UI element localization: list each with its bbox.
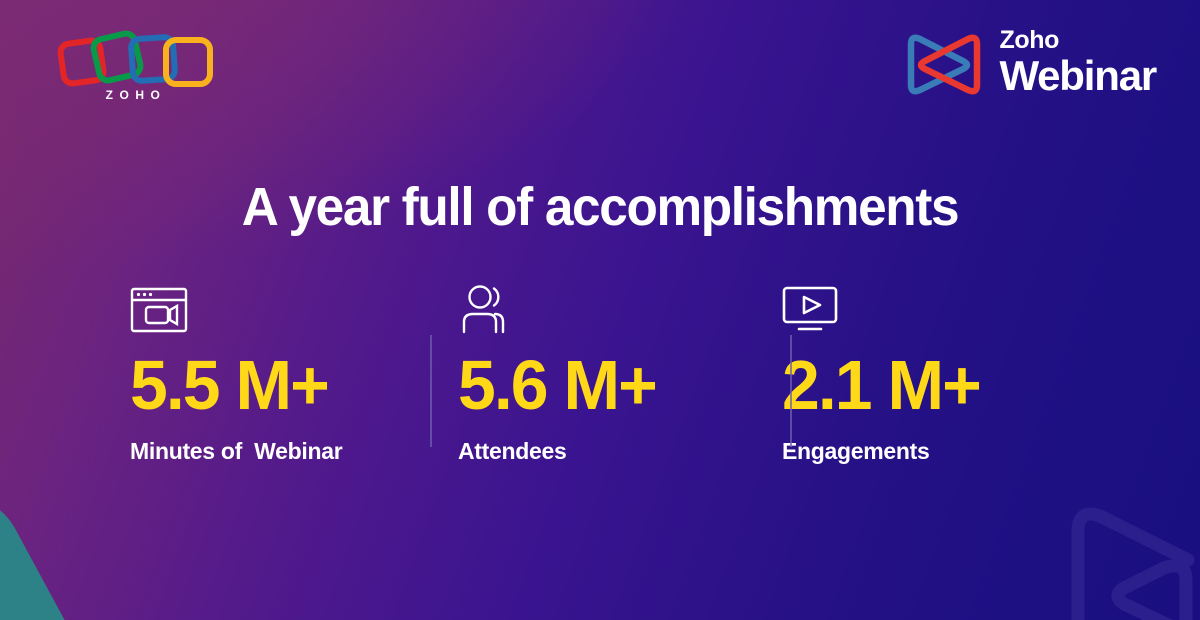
page-title: A year full of accomplishments	[30, 176, 1170, 238]
stat-card-minutes: 5.5 M+ Minutes of Webinar	[0, 278, 360, 465]
zoho-webinar-logo: Zoho Webinar	[903, 28, 1156, 97]
browser-video-icon	[130, 278, 360, 334]
stat-card-attendees: 5.6 M+ Attendees	[360, 278, 718, 465]
stat-value-engagements: 2.1 M+	[782, 350, 1069, 420]
webinar-mark-icon	[903, 30, 985, 96]
zoho-logo: ZOHO	[56, 26, 216, 110]
monitor-play-icon	[782, 278, 1078, 334]
stat-label-minutes: Minutes of Webinar	[130, 438, 360, 465]
stat-label-attendees: Attendees	[458, 438, 718, 465]
stat-label-engagements: Engagements	[782, 438, 1078, 465]
stat-value-attendees: 5.6 M+	[458, 350, 710, 420]
users-icon	[458, 278, 718, 334]
product-name-label: Webinar	[999, 55, 1156, 97]
stat-divider-1	[430, 335, 432, 447]
stat-value-minutes: 5.5 M+	[130, 350, 353, 420]
poster-canvas: ZOHO Zoho Webinar A year full of accompl…	[0, 0, 1200, 620]
product-logo-text: Zoho Webinar	[999, 28, 1156, 97]
teal-decoration-shape	[0, 480, 230, 620]
zoho-squares-icon	[56, 26, 216, 88]
stat-divider-2	[790, 335, 792, 447]
product-brand-label: Zoho	[999, 28, 1156, 53]
stats-row: 5.5 M+ Minutes of Webinar 5.6 M+ Attende…	[0, 278, 1200, 488]
stat-card-engagements: 2.1 M+ Engagements	[718, 278, 1078, 465]
zoho-wordmark: ZOHO	[56, 88, 216, 102]
